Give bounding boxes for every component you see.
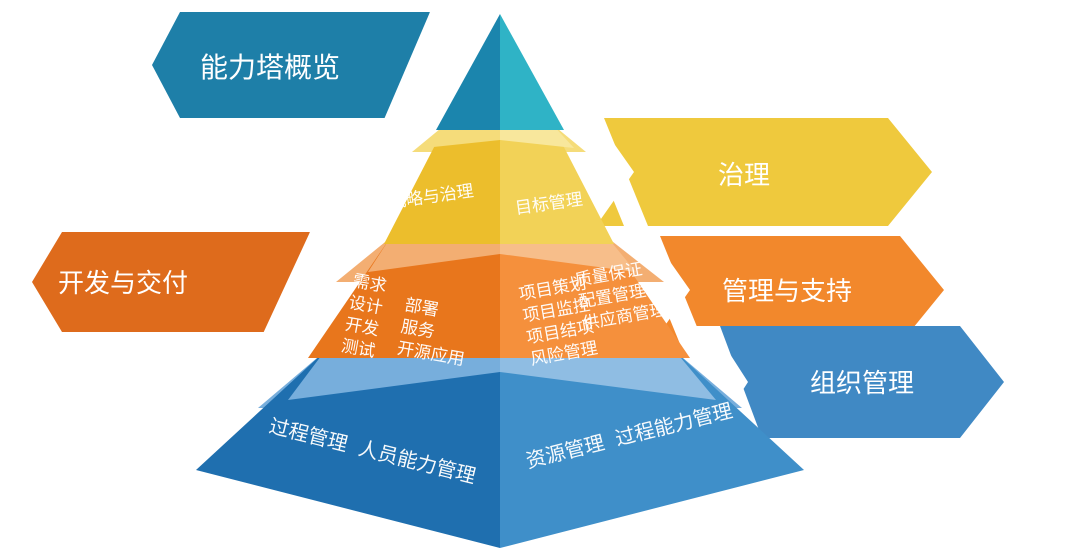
pyramid-tier-apex[interactable] bbox=[436, 14, 564, 130]
apex-left-face[interactable] bbox=[436, 14, 500, 130]
pyramid-tier-foundation[interactable]: 过程管理 人员能力管理 资源管理 过程能力管理 bbox=[196, 352, 804, 548]
diagram-canvas: 能力塔概览 开发与交付 治理 管理与支持 组织管理 bbox=[0, 0, 1080, 560]
banner-right-middle-label: 管理与支持 bbox=[722, 276, 852, 306]
banner-left-middle[interactable]: 开发与交付 bbox=[32, 232, 310, 332]
banner-right-top[interactable]: 治理 bbox=[596, 118, 932, 226]
banner-left-top[interactable]: 能力塔概览 bbox=[152, 12, 430, 118]
banner-right-bottom-label: 组织管理 bbox=[810, 368, 914, 398]
capability-pyramid-diagram: 能力塔概览 开发与交付 治理 管理与支持 组织管理 bbox=[0, 0, 1080, 560]
banner-right-top-label: 治理 bbox=[718, 160, 770, 190]
banner-left-middle-label: 开发与交付 bbox=[58, 268, 188, 298]
pyramid-tier-delivery[interactable]: 需求 设计 开发 测试 部署 服务 开源应用 项目策划 项目监控 项目结项 风险… bbox=[308, 238, 690, 369]
apex-right-face[interactable] bbox=[500, 14, 564, 130]
banner-left-top-label: 能力塔概览 bbox=[200, 52, 340, 83]
banner-right-bottom[interactable]: 组织管理 bbox=[712, 326, 1004, 438]
pyramid-tier-strategy[interactable]: 战略与治理 目标管理 bbox=[384, 124, 614, 244]
